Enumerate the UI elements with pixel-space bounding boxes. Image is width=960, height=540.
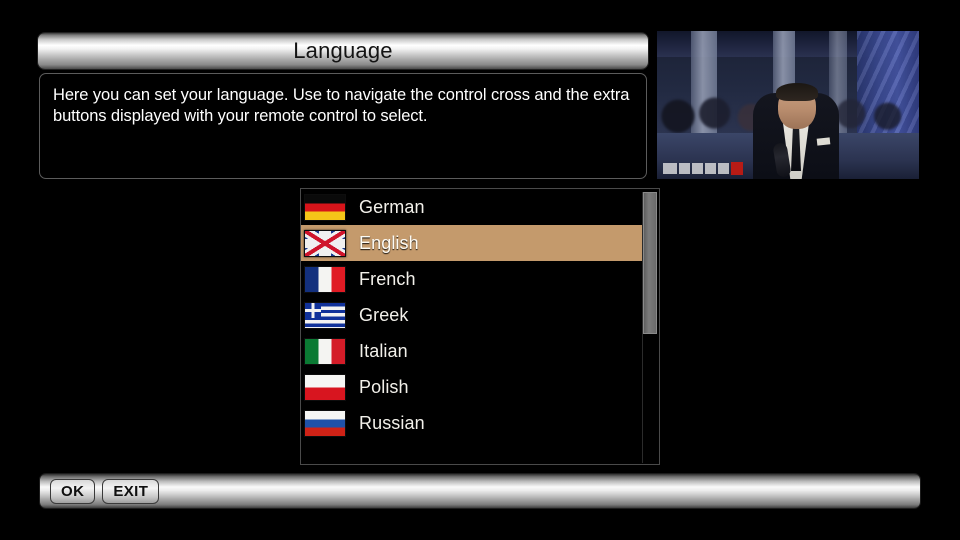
language-list-item[interactable]: Polish [301, 369, 642, 405]
language-list-item[interactable]: Italian [301, 333, 642, 369]
preview-reporter-hair [776, 83, 818, 101]
channel-bug-segment [718, 163, 729, 174]
flag-france-icon [304, 266, 346, 293]
channel-bug-accent [731, 162, 743, 175]
help-description-text: Here you can set your language. Use to n… [53, 85, 633, 127]
channel-bug-segment [692, 163, 703, 174]
language-list-item-label: Italian [359, 342, 408, 360]
flag-poland-icon [304, 374, 346, 401]
softkey-bar: OKEXIT [40, 474, 920, 508]
language-list-item-label: Russian [359, 414, 425, 432]
channel-bug-segment [663, 163, 677, 174]
tv-settings-screen: Language Here you can set your language.… [0, 0, 960, 540]
flag-greece-icon [304, 302, 346, 329]
flag-united-kingdom-icon [304, 230, 346, 257]
language-list-item[interactable]: Greek [301, 297, 642, 333]
language-list-item-label: Polish [359, 378, 409, 396]
channel-bug-icon [663, 162, 755, 175]
channel-bug-segment [705, 163, 716, 174]
language-list-item[interactable]: French [301, 261, 642, 297]
language-list-item-label: English [359, 234, 419, 252]
language-list-item-label: French [359, 270, 416, 288]
language-list-item[interactable]: English [301, 225, 642, 261]
help-description-box: Here you can set your language. Use to n… [39, 73, 647, 179]
flag-germany-icon [304, 194, 346, 221]
language-list-item[interactable]: Russian [301, 405, 642, 441]
language-list[interactable]: GermanEnglishFrenchGreekItalianPolishRus… [301, 189, 642, 464]
language-list-item-label: German [359, 198, 425, 216]
flag-russia-icon [304, 410, 346, 437]
list-scrollbar-thumb[interactable] [643, 192, 657, 334]
exit-button[interactable]: EXIT [102, 479, 159, 504]
preview-pocket-square [817, 137, 831, 145]
language-list-panel[interactable]: GermanEnglishFrenchGreekItalianPolishRus… [300, 188, 660, 465]
channel-bug-segment [679, 163, 690, 174]
flag-italy-icon [304, 338, 346, 365]
ok-button[interactable]: OK [50, 479, 95, 504]
live-tv-preview[interactable] [657, 31, 919, 179]
list-scrollbar-track[interactable] [642, 192, 656, 463]
page-title-bar: Language [38, 33, 648, 69]
page-title: Language [293, 40, 392, 62]
language-list-item[interactable]: German [301, 189, 642, 225]
language-list-item-label: Greek [359, 306, 409, 324]
